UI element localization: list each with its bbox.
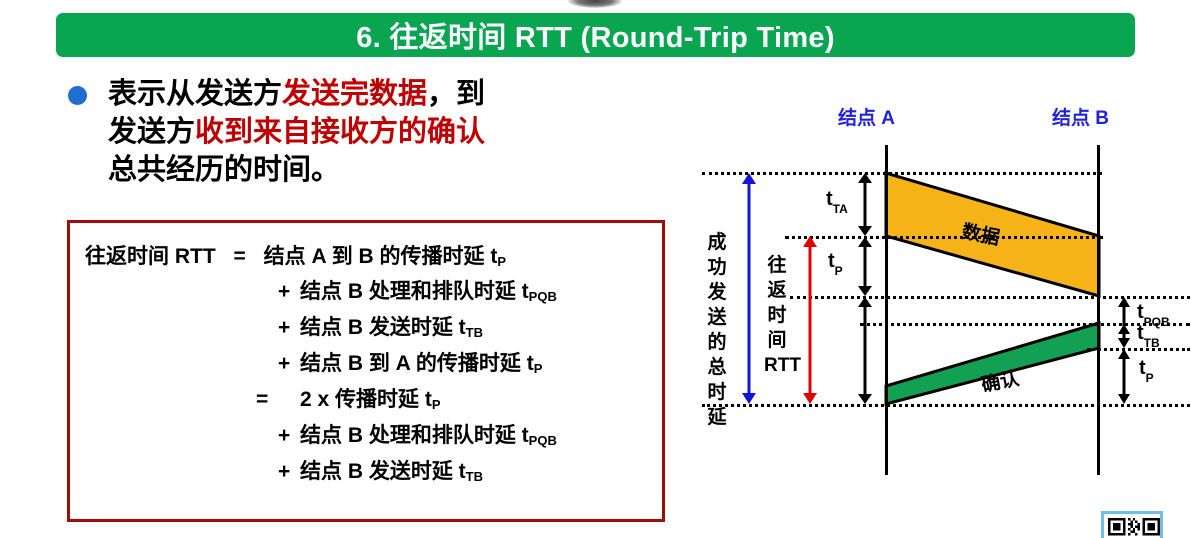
- guide-line-6: [702, 404, 1190, 407]
- bullet-seg-5-red: 收到来自接收方的确认: [195, 116, 485, 148]
- t-p-second-base: t: [1139, 357, 1146, 379]
- bullet-seg-1: 表示从发送方: [108, 78, 282, 110]
- formula-term-1: 结点 B 处理和排队时延 t: [300, 280, 529, 303]
- formula-term-3: 结点 B 到 A 的传播时延 t: [300, 352, 534, 375]
- qr-code-icon: [1108, 518, 1160, 538]
- formula-line-6: +结点 B 发送时延 tTB: [278, 455, 483, 485]
- formula-line-0: 往返时间 RTT=结点 A 到 B 的传播时延 tP: [85, 240, 506, 270]
- formula-op-5: +: [278, 424, 300, 448]
- formula-term-2: 结点 B 发送时延 t: [300, 316, 466, 339]
- formula-sub-4: P: [432, 397, 441, 412]
- formula-line-3: +结点 B 到 A 的传播时延 tP: [278, 347, 542, 377]
- formula-sub-5: PQB: [529, 433, 557, 448]
- slide-title-bar: 6. 往返时间 RTT (Round-Trip Time): [56, 13, 1135, 57]
- bullet-line-3: 总共经历的时间。: [108, 151, 668, 189]
- formula-term-6: 结点 B 发送时延 t: [300, 460, 466, 483]
- arrow-shaft: [864, 306, 867, 395]
- t-p-first-arrow: [857, 237, 873, 296]
- t-p-second-arrow: [1117, 349, 1131, 404]
- rtt-formula-box: 往返时间 RTT=结点 A 到 B 的传播时延 tP +结点 B 处理和排队时延…: [67, 220, 665, 522]
- t-ta-arrow: [857, 173, 873, 236]
- arrow-shaft: [809, 245, 812, 395]
- slide-canvas: 6. 往返时间 RTT (Round-Trip Time) 表示从发送方发送完数…: [0, 0, 1191, 538]
- t-tb-base: t: [1137, 322, 1144, 344]
- cursor-shadow-icon: [568, 0, 622, 8]
- rtt-vertical-label: 往返时间RTT: [764, 253, 790, 378]
- formula-term-0: 结点 A 到 B 的传播时延 t: [264, 245, 498, 268]
- guide-line-1: [702, 172, 1102, 175]
- arrow-head-down-icon: [1118, 394, 1130, 404]
- formula-op-1: +: [278, 280, 300, 304]
- formula-sub-2: TB: [466, 325, 483, 340]
- page-title: 6. 往返时间 RTT (Round-Trip Time): [356, 14, 835, 56]
- t-p-first-sub: P: [835, 264, 843, 278]
- formula-lhs-label: 往返时间 RTT: [85, 240, 216, 270]
- t-tb-sub: TB: [1144, 336, 1160, 350]
- arrow-shaft: [864, 246, 867, 287]
- t-pqb-base: t: [1137, 301, 1144, 323]
- formula-op-4: =: [256, 388, 300, 412]
- formula-op-3: +: [278, 352, 300, 376]
- t-tb-arrow: [1117, 324, 1131, 348]
- t-ta-sub: TA: [833, 202, 848, 216]
- t-ta-label: tTA: [826, 188, 848, 213]
- t-p-first-base: t: [828, 250, 835, 272]
- arrow-head-down-icon: [803, 393, 817, 404]
- arrow-head-down-icon: [742, 393, 756, 404]
- node-b-timeline: [1097, 145, 1100, 475]
- t-ta-base: t: [826, 188, 833, 210]
- arrow-head-down-icon: [1118, 338, 1130, 348]
- formula-sub-1: PQB: [529, 289, 557, 304]
- t-p-second-sub: P: [1146, 371, 1154, 385]
- bullet-line-1: 表示从发送方发送完数据，到: [108, 75, 668, 113]
- formula-term-4: 2 x 传播时延 t: [300, 388, 432, 411]
- bullet-seg-2-red: 发送完数据: [282, 78, 427, 110]
- formula-line-2: +结点 B 发送时延 tTB: [278, 311, 483, 341]
- arrow-shaft: [748, 182, 751, 395]
- bullet-line-2: 发送方收到来自接收方的确认: [108, 113, 668, 151]
- t-p-first-label: tP: [828, 250, 843, 275]
- guide-line-5: [1087, 348, 1190, 351]
- arrow-head-down-icon: [858, 394, 872, 404]
- total-delay-label: 成功发送的总时延: [704, 230, 730, 430]
- formula-sub-3: P: [534, 361, 543, 376]
- total-delay-arrow: [741, 173, 757, 404]
- qr-code-panel[interactable]: [1101, 511, 1163, 538]
- arrow-head-down-icon: [858, 226, 872, 236]
- formula-line-1: +结点 B 处理和排队时延 tPQB: [278, 275, 557, 305]
- bullet-seg-4: 发送方: [108, 116, 195, 148]
- formula-equals-0: =: [216, 245, 264, 269]
- node-a-timeline: [885, 145, 888, 475]
- arrow-shaft: [864, 182, 867, 227]
- t-tb-label: tTB: [1137, 322, 1160, 347]
- bullet-dot-icon: [68, 86, 87, 105]
- rtt-arrow: [802, 236, 818, 404]
- formula-sub-6: TB: [466, 469, 483, 484]
- bullet-seg-6: 总共经历的时间。: [108, 154, 340, 186]
- formula-term-5: 结点 B 处理和排队时延 t: [300, 424, 529, 447]
- guide-line-2: [785, 236, 1103, 239]
- formula-line-4: =2 x 传播时延 tP: [256, 383, 441, 413]
- formula-line-5: +结点 B 处理和排队时延 tPQB: [278, 419, 557, 449]
- bullet-paragraph: 表示从发送方发送完数据，到 发送方收到来自接收方的确认 总共经历的时间。: [108, 75, 668, 189]
- formula-sub-0: P: [497, 254, 506, 269]
- formula-op-2: +: [278, 316, 300, 340]
- arrow-shaft: [1123, 357, 1126, 396]
- rtt-timing-diagram: 结点 A 结点 B 数据 确认: [690, 95, 1190, 495]
- remaining-rtt-arrow: [857, 297, 873, 404]
- formula-op-6: +: [278, 460, 300, 484]
- t-p-second-label: tP: [1139, 357, 1154, 382]
- bullet-seg-3: ，到: [427, 78, 485, 110]
- arrow-head-down-icon: [858, 286, 872, 296]
